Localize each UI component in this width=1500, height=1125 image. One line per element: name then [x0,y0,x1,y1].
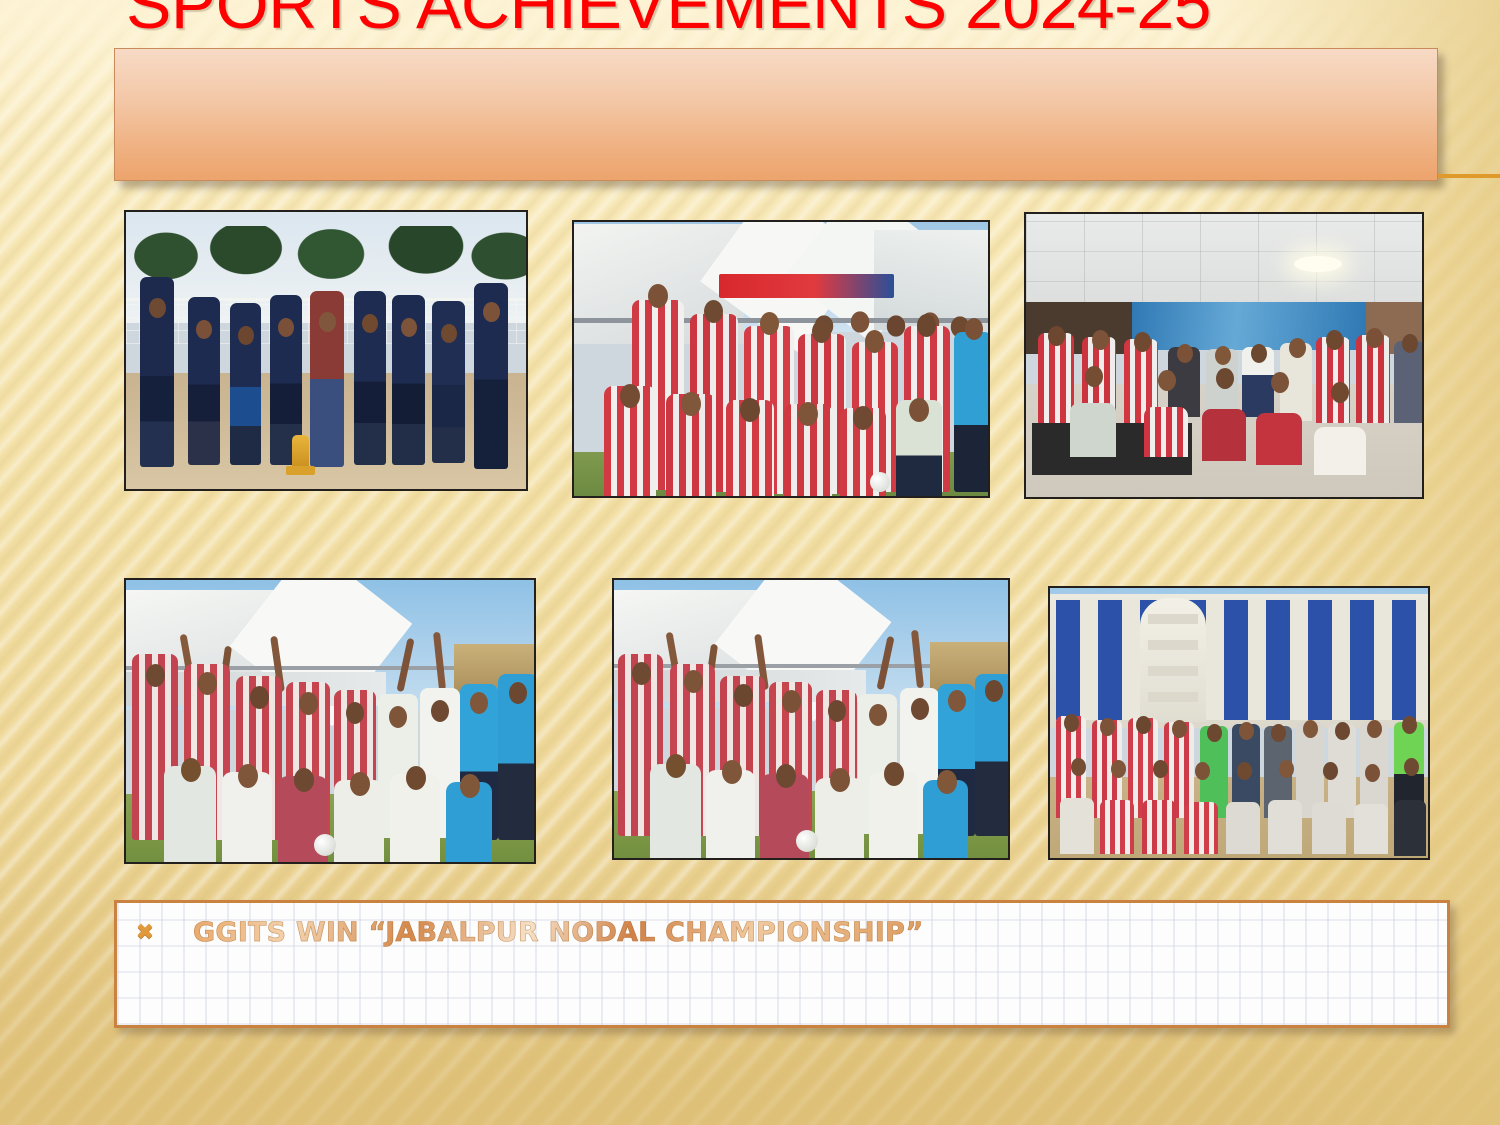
photo-football-team-tents[interactable] [572,220,990,498]
slide: SPORTS ACHIEVEMENTS 2024-25 [0,0,1500,1125]
photo-championship-celebration-left[interactable] [124,578,536,864]
page-title: SPORTS ACHIEVEMENTS 2024-25 [126,0,1446,44]
body-content-placeholder[interactable]: ✖ GGITS WIN “JABALPUR NODAL CHAMPIONSHIP… [114,900,1450,1028]
bullet-text: GGITS WIN “JABALPUR NODAL CHAMPIONSHIP” [193,917,923,949]
photo-indoor-team-group[interactable] [1024,212,1424,499]
photo-volleyball-team[interactable] [124,210,528,491]
list-item: ✖ GGITS WIN “JABALPUR NODAL CHAMPIONSHIP… [131,917,923,949]
multiply-bullet-icon: ✖ [131,919,159,947]
photo-championship-celebration-right[interactable] [612,578,1010,860]
title-placeholder-box[interactable] [114,48,1438,181]
title-accent-rule [1438,174,1500,178]
photo-teams-before-college-building[interactable] [1048,586,1430,860]
